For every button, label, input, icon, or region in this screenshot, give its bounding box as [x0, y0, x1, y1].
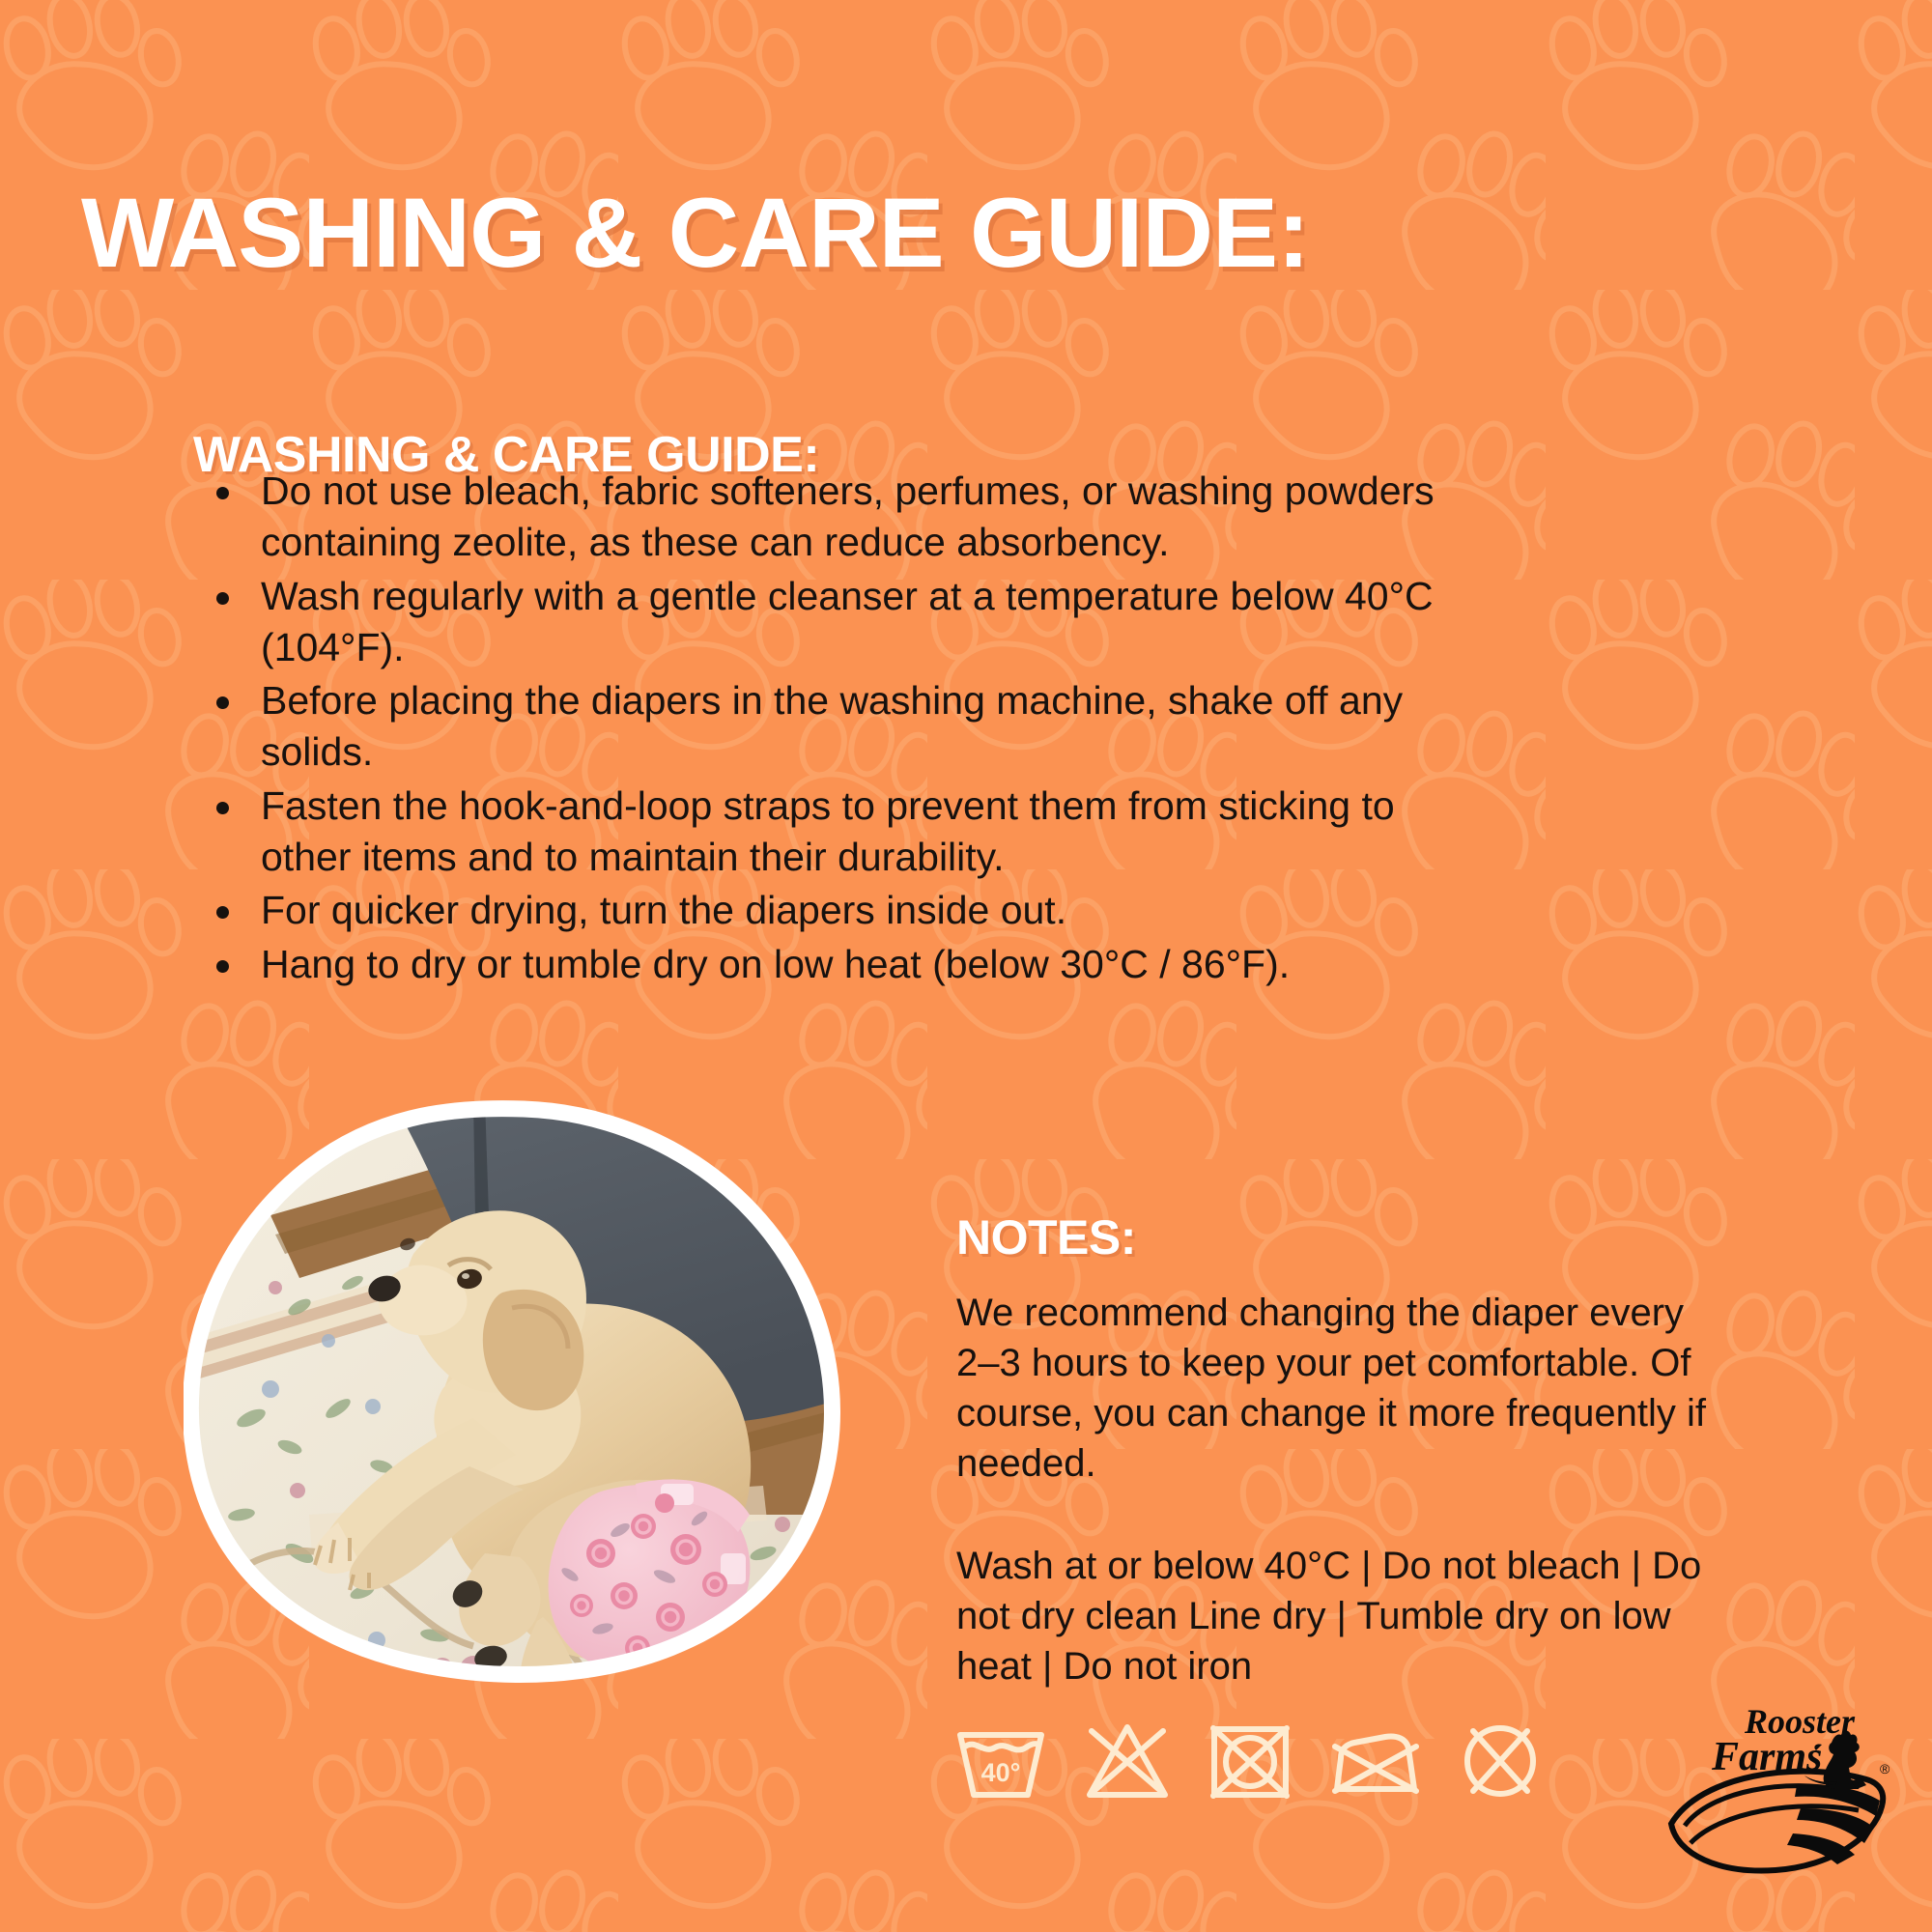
dog-photo	[184, 1099, 840, 1689]
logo-trademark: ®	[1880, 1761, 1890, 1776]
notes-paragraph-1: We recommend changing the diaper every 2…	[956, 1288, 1729, 1489]
notes-paragraph-2: Wash at or below 40°C | Do not bleach | …	[956, 1541, 1719, 1691]
do-not-dry-clean-icon	[1459, 1719, 1542, 1803]
list-item: Before placing the diapers in the washin…	[205, 675, 1480, 779]
wash-temperature-label: 40°	[981, 1758, 1021, 1787]
logo-line-2: Farms	[1711, 1735, 1822, 1779]
list-item: Wash regularly with a gentle cleanser at…	[205, 571, 1480, 674]
list-item: Do not use bleach, fabric softeners, per…	[205, 466, 1480, 569]
notes-heading: NOTES:	[956, 1209, 1136, 1265]
care-instructions-list: Do not use bleach, fabric softeners, per…	[205, 466, 1480, 992]
do-not-bleach-icon	[1084, 1719, 1171, 1803]
rooster-farms-logo: Rooster Farms ®	[1652, 1700, 1893, 1879]
do-not-iron-icon	[1329, 1719, 1422, 1803]
do-not-tumble-dry-icon	[1207, 1719, 1293, 1803]
list-item: Hang to dry or tumble dry on low heat (b…	[205, 939, 1480, 990]
care-symbols-row: 40°	[954, 1719, 1542, 1803]
list-item: For quicker drying, turn the diapers ins…	[205, 885, 1480, 936]
list-item: Fasten the hook-and-loop straps to preve…	[205, 781, 1480, 884]
wash-40-icon: 40°	[954, 1719, 1047, 1803]
page-title: WASHING & CARE GUIDE:	[81, 184, 1309, 282]
